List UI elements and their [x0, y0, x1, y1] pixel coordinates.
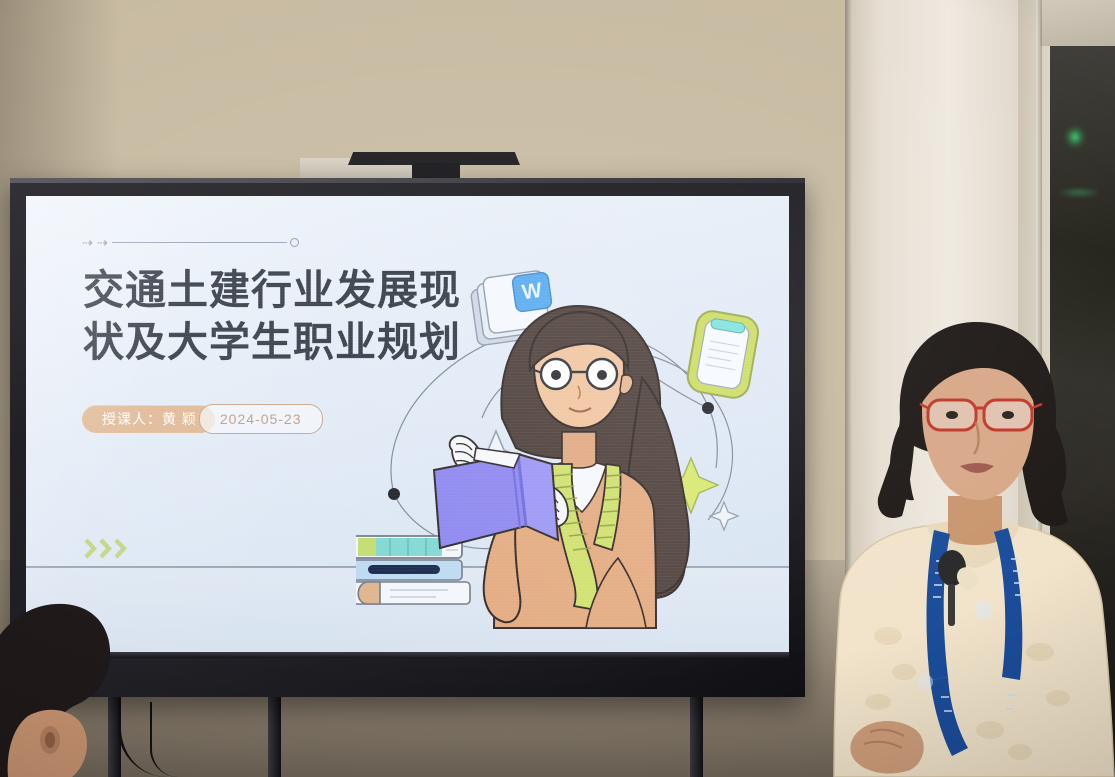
- svg-text:W: W: [521, 279, 544, 305]
- display-stand-leg-far-right: [690, 697, 703, 777]
- eye-right: [597, 370, 607, 380]
- chevron-right-icon-1: [84, 538, 97, 559]
- figure-reading: [434, 306, 689, 628]
- student-foreground-head: [0, 588, 163, 777]
- chevron-right-icon-3: [114, 538, 127, 559]
- arrow-right-icon-2: ⇢: [97, 236, 108, 249]
- orbit-node-dot-right: [702, 402, 714, 414]
- display-stand-leg-right: [268, 697, 281, 777]
- book-stack-icon: [356, 536, 470, 604]
- chevron-decoration: [84, 538, 127, 559]
- arrow-right-icon: ⇢: [82, 236, 93, 249]
- presenter-badge: 授课人：黄 颖: [82, 405, 215, 433]
- eye-right: [1002, 411, 1014, 419]
- slide-meta-badges: 授课人：黄 颖 2024-05-23: [82, 404, 323, 434]
- presentation-slide: ⇢ ⇢ 交通土建行业发展现 状及大学生职业规划 授课人：黄 颖 2024-05-…: [26, 196, 789, 652]
- orbit-node-dot-left: [388, 488, 400, 500]
- star-outline-icon-right: [710, 502, 738, 530]
- decoration-line: [112, 242, 287, 243]
- date-badge: 2024-05-23: [199, 404, 323, 434]
- display-screen[interactable]: ⇢ ⇢ 交通土建行业发展现 状及大学生职业规划 授课人：黄 颖 2024-05-…: [26, 196, 789, 652]
- eye-left: [551, 370, 561, 380]
- phone-notepad-icon: [685, 309, 760, 401]
- neck: [948, 496, 1002, 545]
- hand: [850, 721, 923, 774]
- lanyard-badge-ring: [975, 601, 993, 619]
- eye-left: [946, 411, 958, 419]
- slide-decoration-rule: ⇢ ⇢: [82, 236, 299, 249]
- classroom-photo-scene: ⇢ ⇢ 交通土建行业发展现 状及大学生职业规划 授课人：黄 颖 2024-05-…: [0, 0, 1115, 777]
- student-reading-book-illustration: W: [356, 258, 776, 652]
- presenter-woman-speaking: [830, 300, 1115, 777]
- decoration-end-dot-icon: [290, 238, 299, 247]
- door-frame-header: [1040, 0, 1115, 46]
- chevron-right-icon-2: [99, 538, 112, 559]
